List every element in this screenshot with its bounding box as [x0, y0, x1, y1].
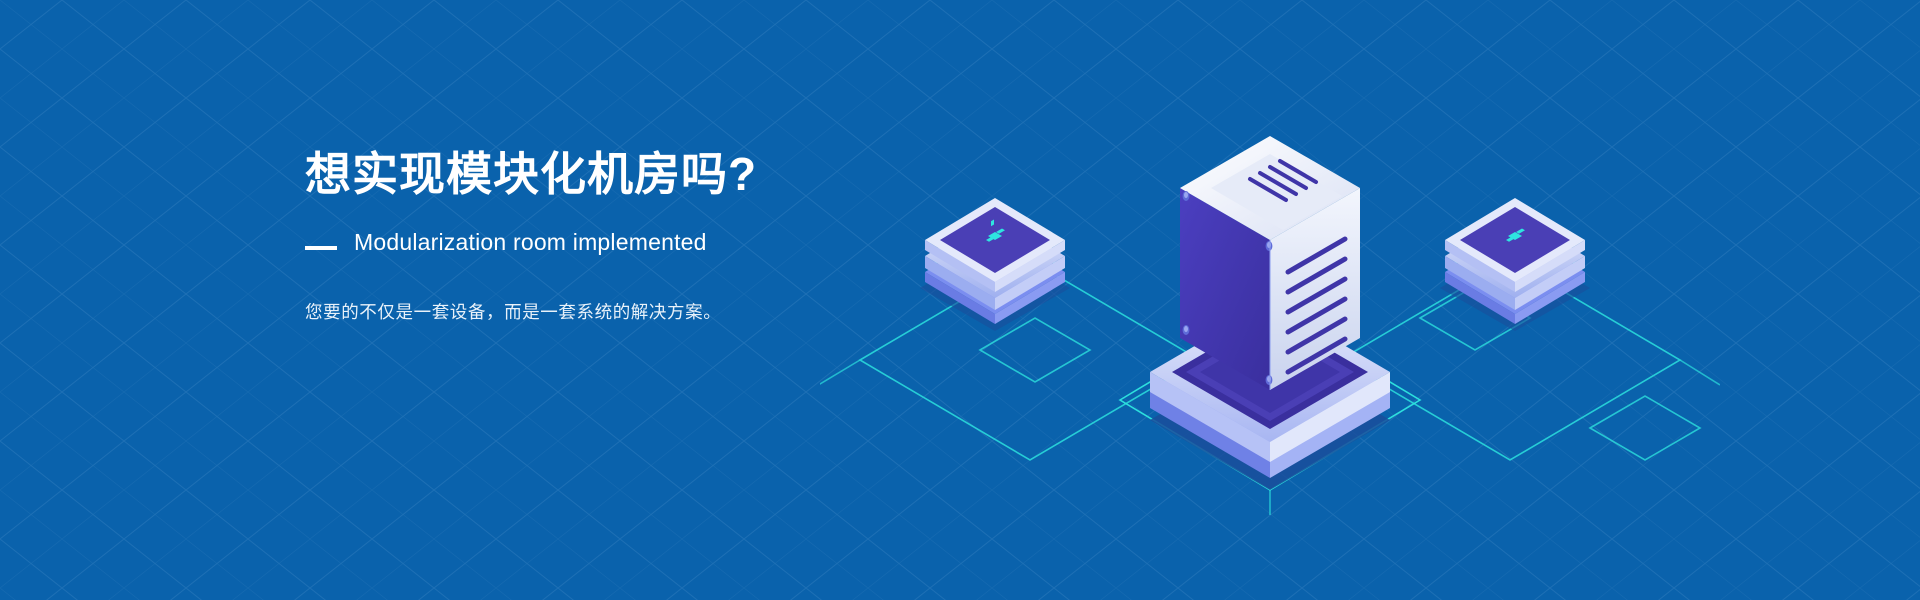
hero-description: 您要的不仅是一套设备，而是一套系统的解决方案。 — [305, 299, 1065, 324]
chip-module-right — [1445, 198, 1585, 324]
subtitle-row: Modularization room implemented — [305, 229, 1065, 257]
hero-banner: 想实现模块化机房吗? Modularization room implement… — [0, 0, 1920, 600]
page-subtitle: Modularization room implemented — [354, 229, 707, 256]
divider-dash-icon — [305, 246, 337, 250]
page-title: 想实现模块化机房吗? — [305, 148, 1065, 201]
server-tower — [1180, 136, 1360, 390]
hero-text-block: 想实现模块化机房吗? Modularization room implement… — [305, 148, 1065, 324]
